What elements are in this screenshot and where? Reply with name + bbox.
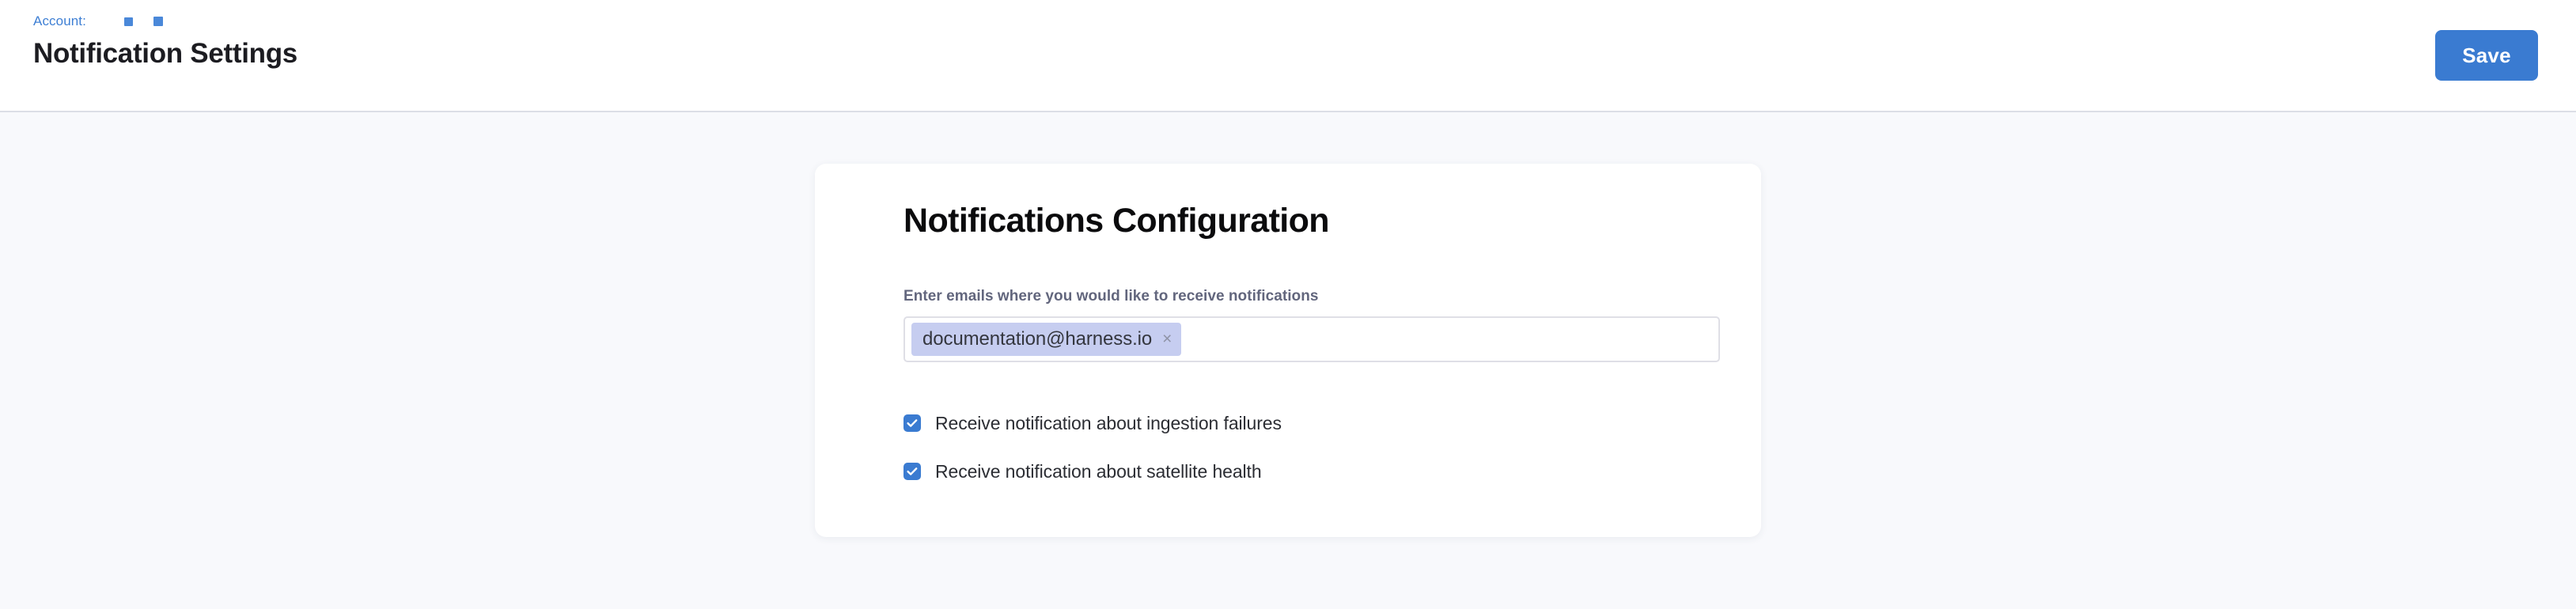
email-field-label: Enter emails where you would like to rec… — [903, 288, 1717, 305]
checkbox-row-ingestion-failures[interactable]: Receive notification about ingestion fai… — [903, 411, 1717, 435]
page-body: Notifications Configuration Enter emails… — [0, 112, 2576, 609]
email-tag-chip[interactable]: documentation@harness.io × — [911, 323, 1181, 356]
page-title: Notification Settings — [33, 39, 2538, 70]
close-icon[interactable]: × — [1162, 331, 1172, 347]
email-field-group: Enter emails where you would like to rec… — [903, 288, 1717, 362]
checkbox-ingestion-failures[interactable] — [903, 414, 921, 432]
check-icon — [906, 465, 919, 478]
redacted-block-1 — [124, 17, 133, 26]
breadcrumb: Account: — [33, 13, 2538, 30]
notification-checkbox-list: Receive notification about ingestion fai… — [903, 411, 1717, 483]
card-title: Notifications Configuration — [903, 202, 1717, 239]
redacted-block-2 — [153, 17, 163, 26]
checkbox-satellite-health[interactable] — [903, 463, 921, 480]
checkbox-label-satellite-health: Receive notification about satellite hea… — [935, 463, 1262, 481]
checkbox-label-ingestion-failures: Receive notification about ingestion fai… — [935, 414, 1282, 433]
breadcrumb-account-label[interactable]: Account: — [33, 13, 86, 29]
page-header: Account: Notification Settings Save — [0, 0, 2576, 112]
email-tag-chip-label: documentation@harness.io — [922, 330, 1152, 349]
check-icon — [906, 417, 919, 429]
email-tag-input[interactable]: documentation@harness.io × — [903, 316, 1720, 362]
checkbox-row-satellite-health[interactable]: Receive notification about satellite hea… — [903, 460, 1717, 483]
save-button[interactable]: Save — [2435, 30, 2538, 81]
notifications-configuration-card: Notifications Configuration Enter emails… — [815, 164, 1761, 537]
